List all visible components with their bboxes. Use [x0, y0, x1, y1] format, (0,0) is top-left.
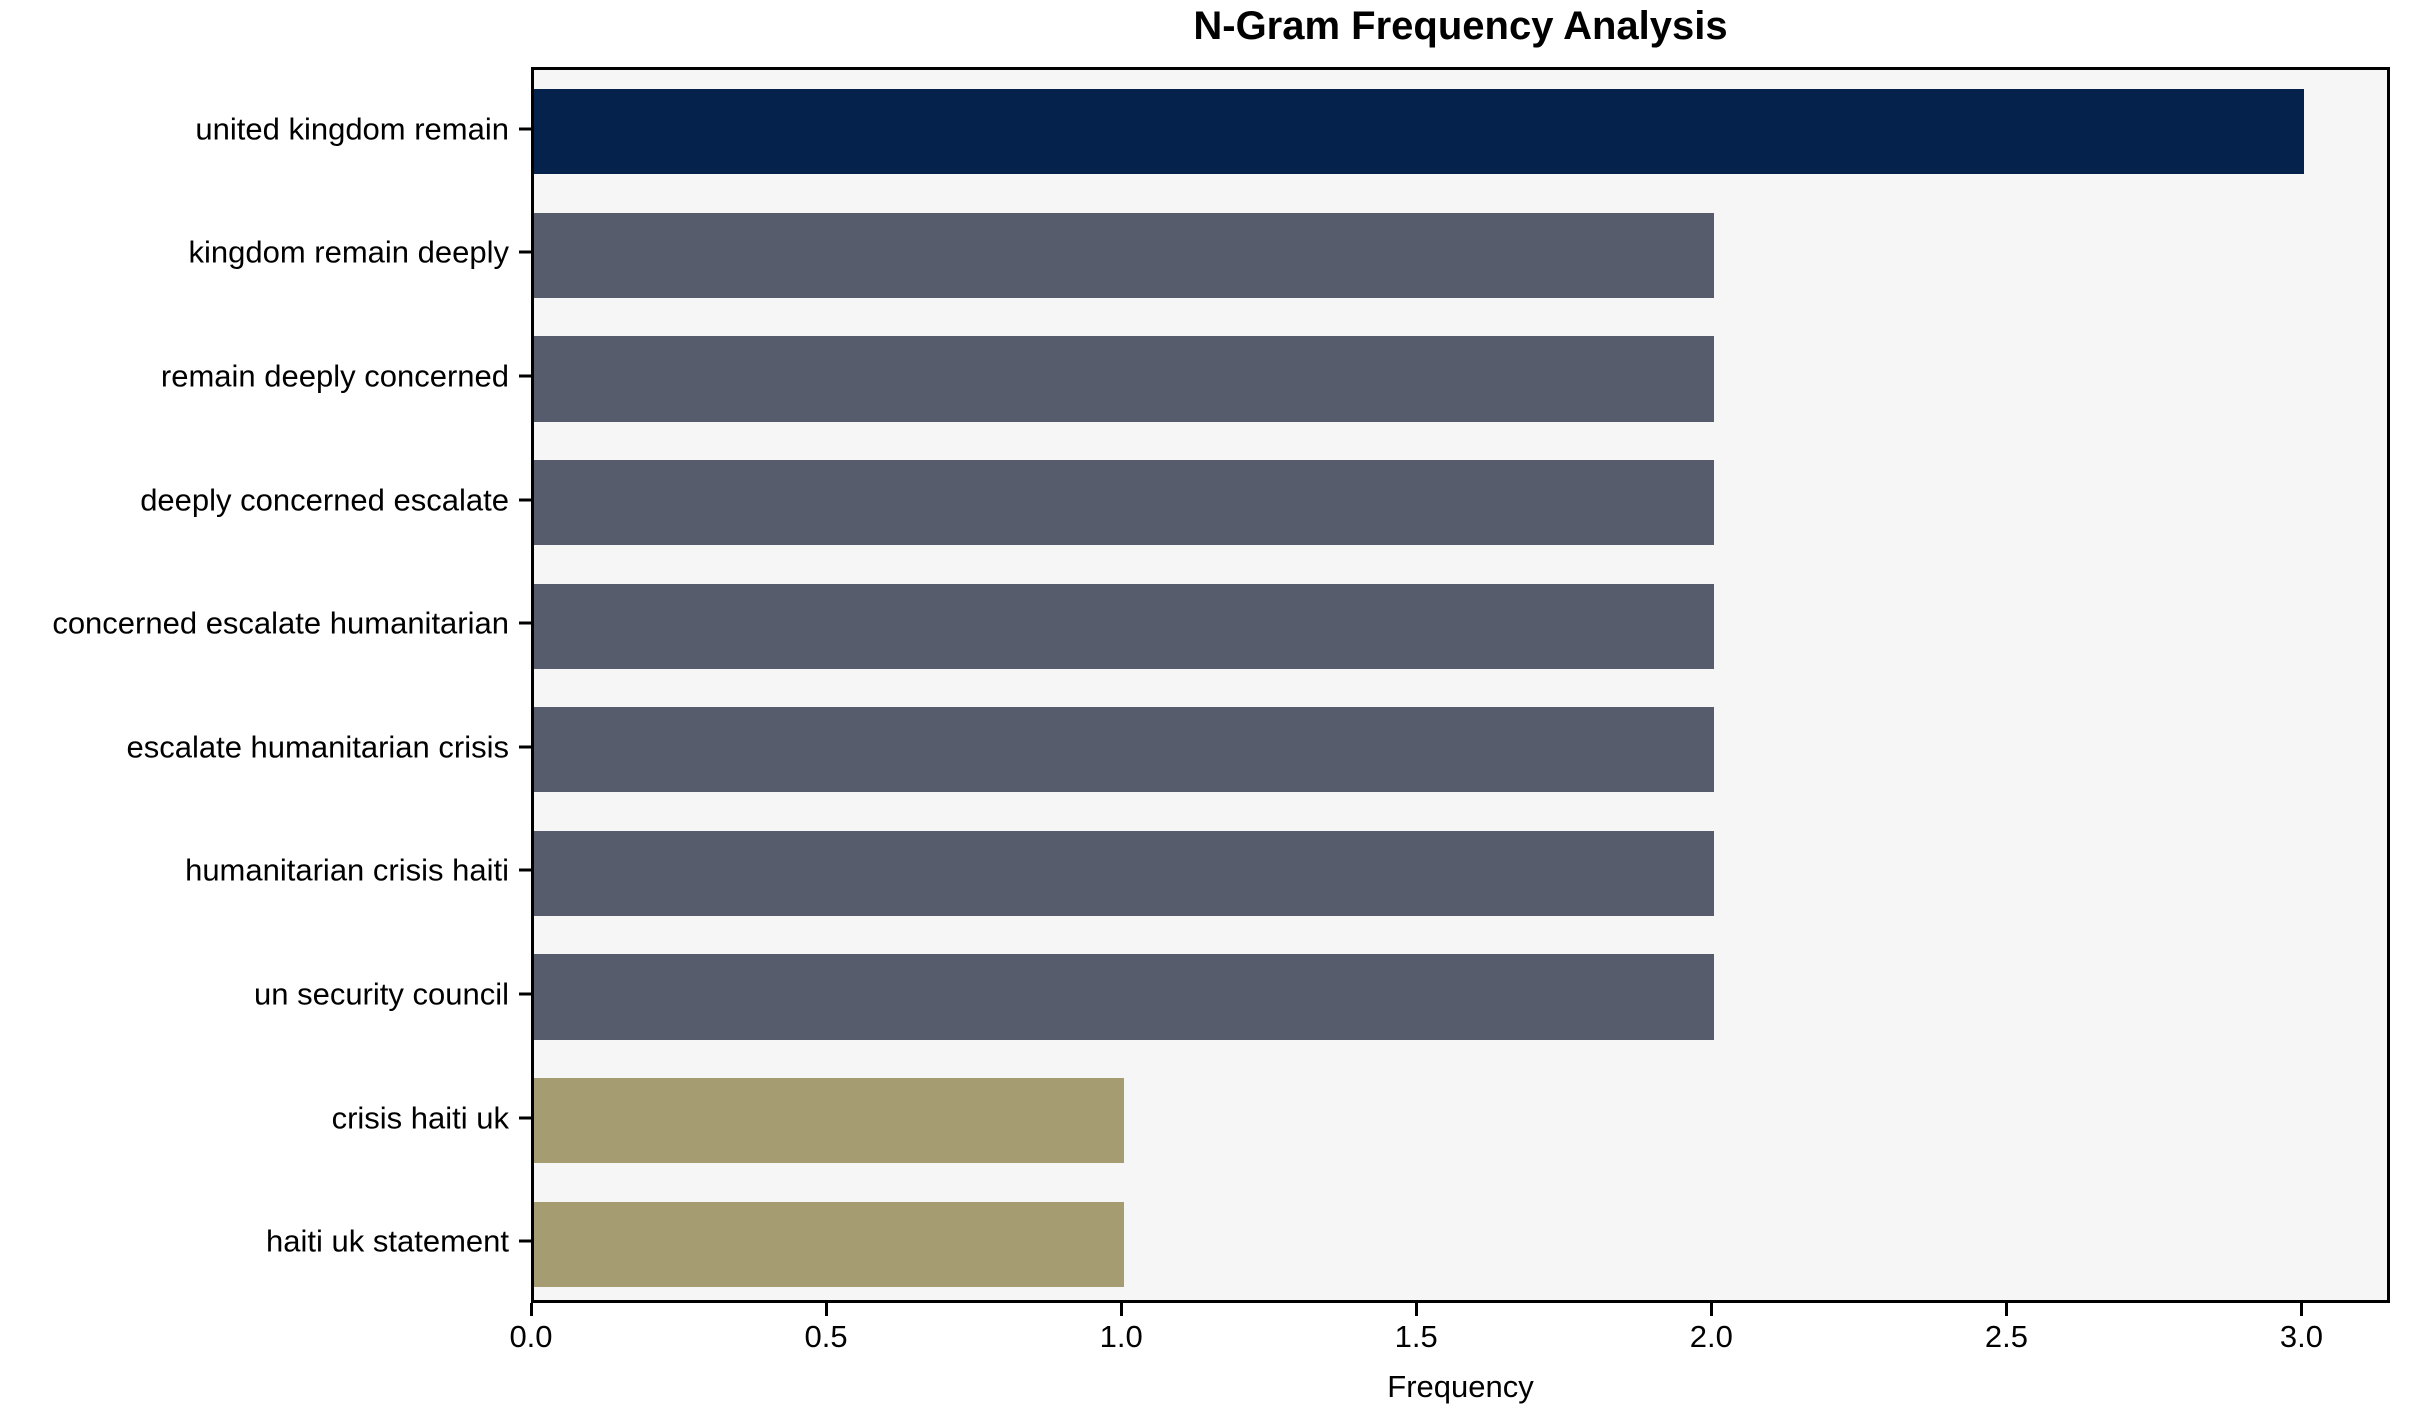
y-tick-mark-2	[519, 375, 531, 378]
bar-9	[534, 1202, 1124, 1287]
x-tick-label-2: 1.0	[1100, 1321, 1143, 1352]
y-tick-mark-9	[519, 1240, 531, 1243]
y-tick-mark-8	[519, 1116, 531, 1119]
chart-figure: N-Gram Frequency Analysis united kingdom…	[0, 0, 2410, 1414]
y-tick-mark-0	[519, 127, 531, 130]
x-tick-label-5: 2.5	[1985, 1321, 2028, 1352]
x-tick-mark-5	[2005, 1303, 2008, 1316]
bar-0	[534, 89, 2304, 174]
y-tick-label-9: haiti uk statement	[266, 1226, 509, 1257]
y-tick-mark-5	[519, 745, 531, 748]
bar-4	[534, 584, 1714, 669]
y-tick-label-4: concerned escalate humanitarian	[52, 608, 509, 639]
x-tick-mark-3	[1415, 1303, 1418, 1316]
y-tick-label-8: crisis haiti uk	[332, 1102, 509, 1133]
bar-7	[534, 954, 1714, 1039]
x-axis-title: Frequency	[531, 1369, 2390, 1405]
bar-1	[534, 213, 1714, 298]
bar-6	[534, 831, 1714, 916]
y-tick-label-1: kingdom remain deeply	[188, 237, 509, 268]
chart-title: N-Gram Frequency Analysis	[531, 4, 2390, 49]
y-tick-label-5: escalate humanitarian crisis	[126, 731, 509, 762]
y-tick-label-2: remain deeply concerned	[161, 361, 509, 392]
x-tick-label-0: 0.0	[509, 1321, 552, 1352]
x-tick-mark-2	[1120, 1303, 1123, 1316]
bars-layer	[534, 70, 2387, 1300]
x-tick-label-1: 0.5	[805, 1321, 848, 1352]
bar-2	[534, 336, 1714, 421]
y-tick-mark-4	[519, 622, 531, 625]
x-tick-mark-4	[1710, 1303, 1713, 1316]
y-tick-mark-6	[519, 869, 531, 872]
bar-8	[534, 1078, 1124, 1163]
bar-3	[534, 460, 1714, 545]
x-axis: Frequency 0.00.51.01.52.02.53.0	[531, 1303, 2390, 1414]
x-tick-label-3: 1.5	[1395, 1321, 1438, 1352]
y-tick-mark-3	[519, 498, 531, 501]
x-tick-mark-1	[825, 1303, 828, 1316]
y-tick-label-6: humanitarian crisis haiti	[185, 855, 509, 886]
plot-area	[531, 67, 2390, 1303]
x-tick-label-4: 2.0	[1690, 1321, 1733, 1352]
y-tick-label-3: deeply concerned escalate	[140, 484, 509, 515]
y-axis-labels: united kingdom remainkingdom remain deep…	[0, 67, 531, 1303]
y-tick-label-7: un security council	[254, 979, 509, 1010]
x-tick-mark-0	[530, 1303, 533, 1316]
y-tick-label-0: united kingdom remain	[195, 113, 509, 144]
y-tick-mark-7	[519, 993, 531, 996]
bar-5	[534, 707, 1714, 792]
y-tick-mark-1	[519, 251, 531, 254]
x-tick-mark-6	[2300, 1303, 2303, 1316]
x-tick-label-6: 3.0	[2280, 1321, 2323, 1352]
